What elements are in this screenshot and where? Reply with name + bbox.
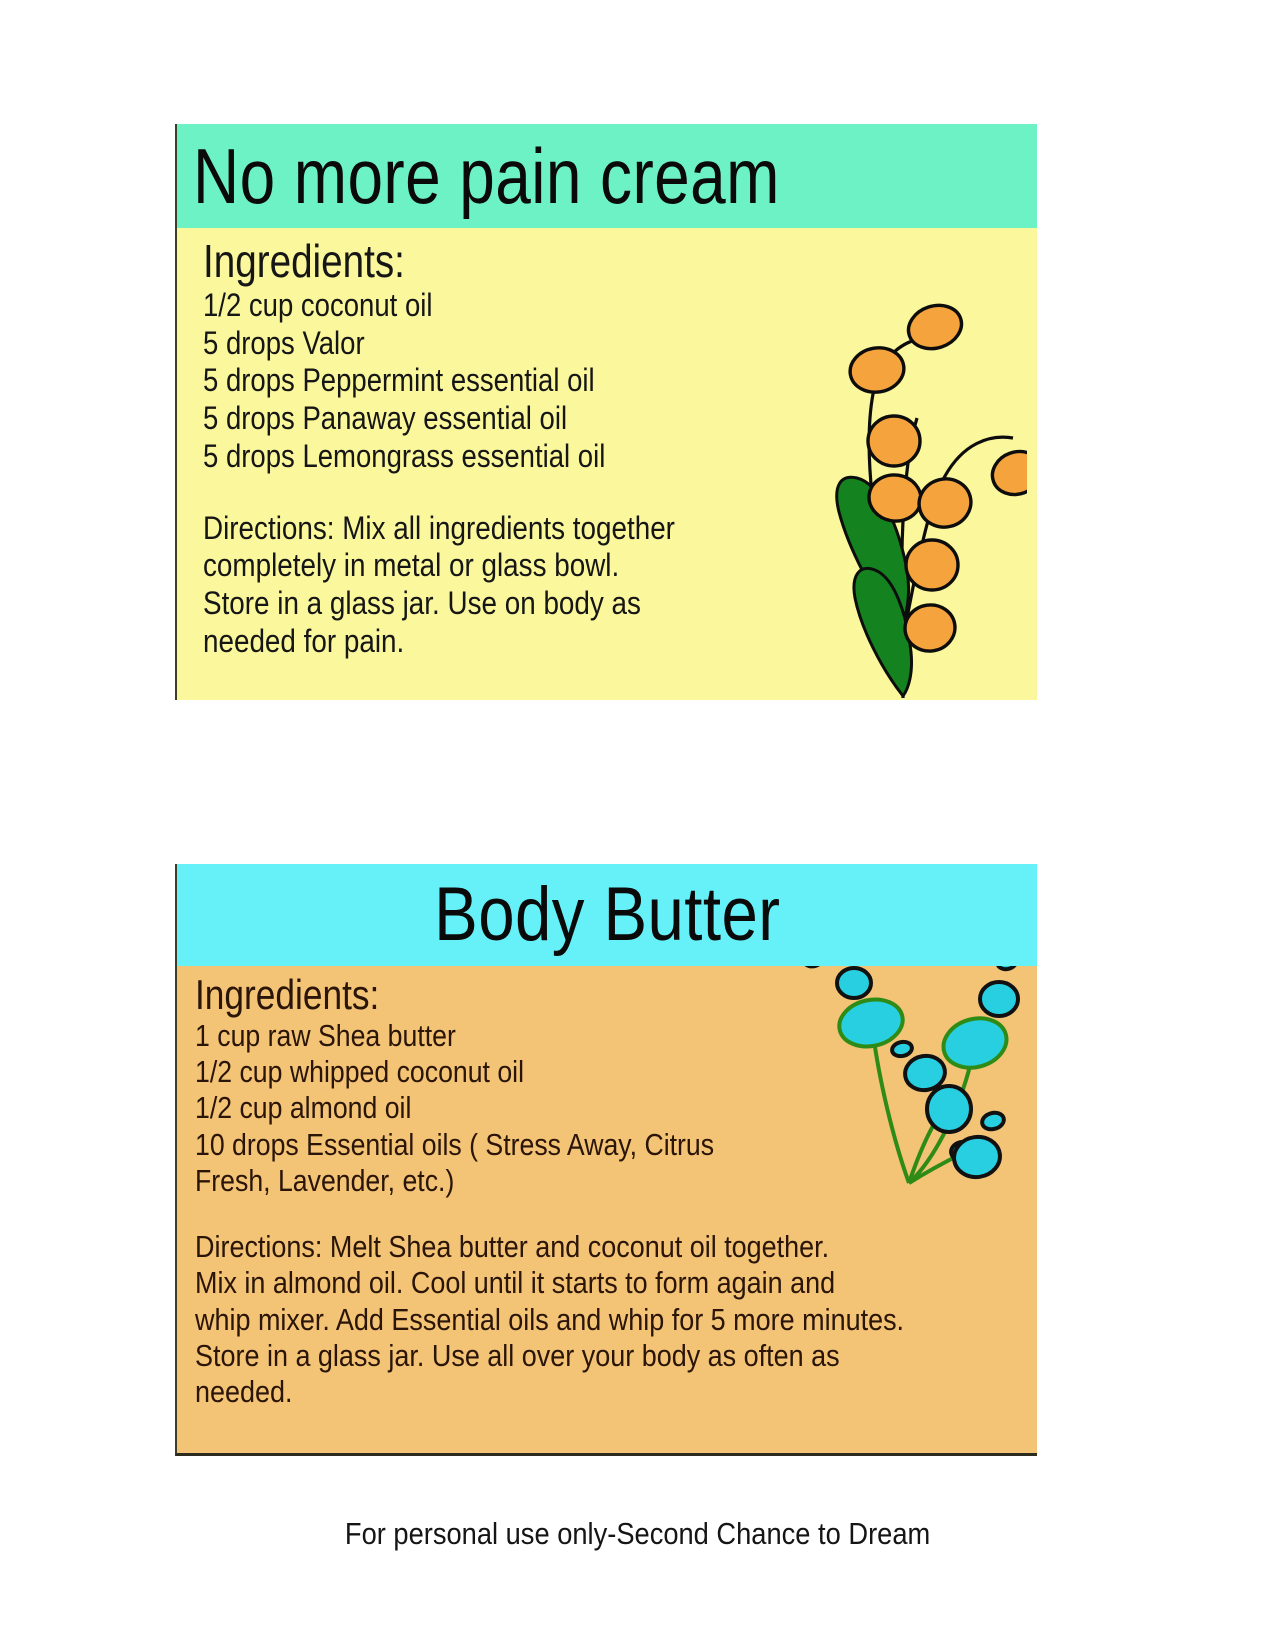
directions-line: completely in metal or glass bowl. [203, 547, 929, 585]
directions-line: whip mixer. Add Essential oils and whip … [195, 1302, 928, 1338]
directions-body-butter: Directions: Melt Shea butter and coconut… [195, 1229, 928, 1410]
ingredient-item: 5 drops Panaway essential oil [203, 400, 920, 438]
recipe-card-pain-cream: No more pain cream [175, 124, 1037, 700]
card-body-body-butter: Ingredients: 1 cup raw Shea butter 1/2 c… [177, 966, 1037, 1453]
recipe-page: No more pain cream [0, 0, 1275, 1650]
card-header-body-butter: Body Butter [177, 864, 1037, 966]
ingredient-item: 5 drops Lemongrass essential oil [203, 438, 920, 476]
ingredient-item: 5 drops Peppermint essential oil [203, 362, 920, 400]
card-title-body-butter: Body Butter [434, 877, 780, 953]
ingredient-item: 1/2 cup coconut oil [203, 287, 920, 325]
page-footer: For personal use only-Second Chance to D… [0, 1516, 1275, 1552]
directions-pain-cream: Directions: Mix all ingredients together… [203, 510, 929, 661]
ingredients-list-body-butter: 1 cup raw Shea butter 1/2 cup whipped co… [195, 1018, 1037, 1199]
directions-line: needed for pain. [203, 623, 929, 661]
ingredients-heading-body-butter: Ingredients: [195, 974, 902, 1017]
directions-line: Directions: Melt Shea butter and coconut… [195, 1229, 928, 1265]
directions-line: Store in a glass jar. Use on body as [203, 585, 929, 623]
directions-line: Store in a glass jar. Use all over your … [195, 1338, 928, 1374]
ingredient-item: 1/2 cup almond oil [195, 1090, 919, 1126]
card-header-pain-cream: No more pain cream [177, 124, 1037, 228]
card-title-pain-cream: No more pain cream [193, 137, 780, 215]
directions-line: Directions: Mix all ingredients together [203, 510, 929, 548]
ingredient-item: 1/2 cup whipped coconut oil [195, 1054, 919, 1090]
directions-line: Mix in almond oil. Cool until it starts … [195, 1265, 928, 1301]
card-body-pain-cream: Ingredients: 1/2 cup coconut oil 5 drops… [177, 228, 1037, 700]
ingredients-list-pain-cream: 1/2 cup coconut oil 5 drops Valor 5 drop… [203, 287, 1037, 476]
ingredient-item: 1 cup raw Shea butter [195, 1018, 919, 1054]
directions-line: needed. [195, 1374, 928, 1410]
ingredient-item: Fresh, Lavender, etc.) [195, 1163, 919, 1199]
recipe-card-body-butter: Body Butter [175, 864, 1037, 1456]
ingredients-heading-pain-cream: Ingredients: [203, 238, 904, 285]
ingredient-item: 10 drops Essential oils ( Stress Away, C… [195, 1127, 919, 1163]
footer-text: For personal use only-Second Chance to D… [345, 1516, 930, 1552]
ingredient-item: 5 drops Valor [203, 325, 920, 363]
